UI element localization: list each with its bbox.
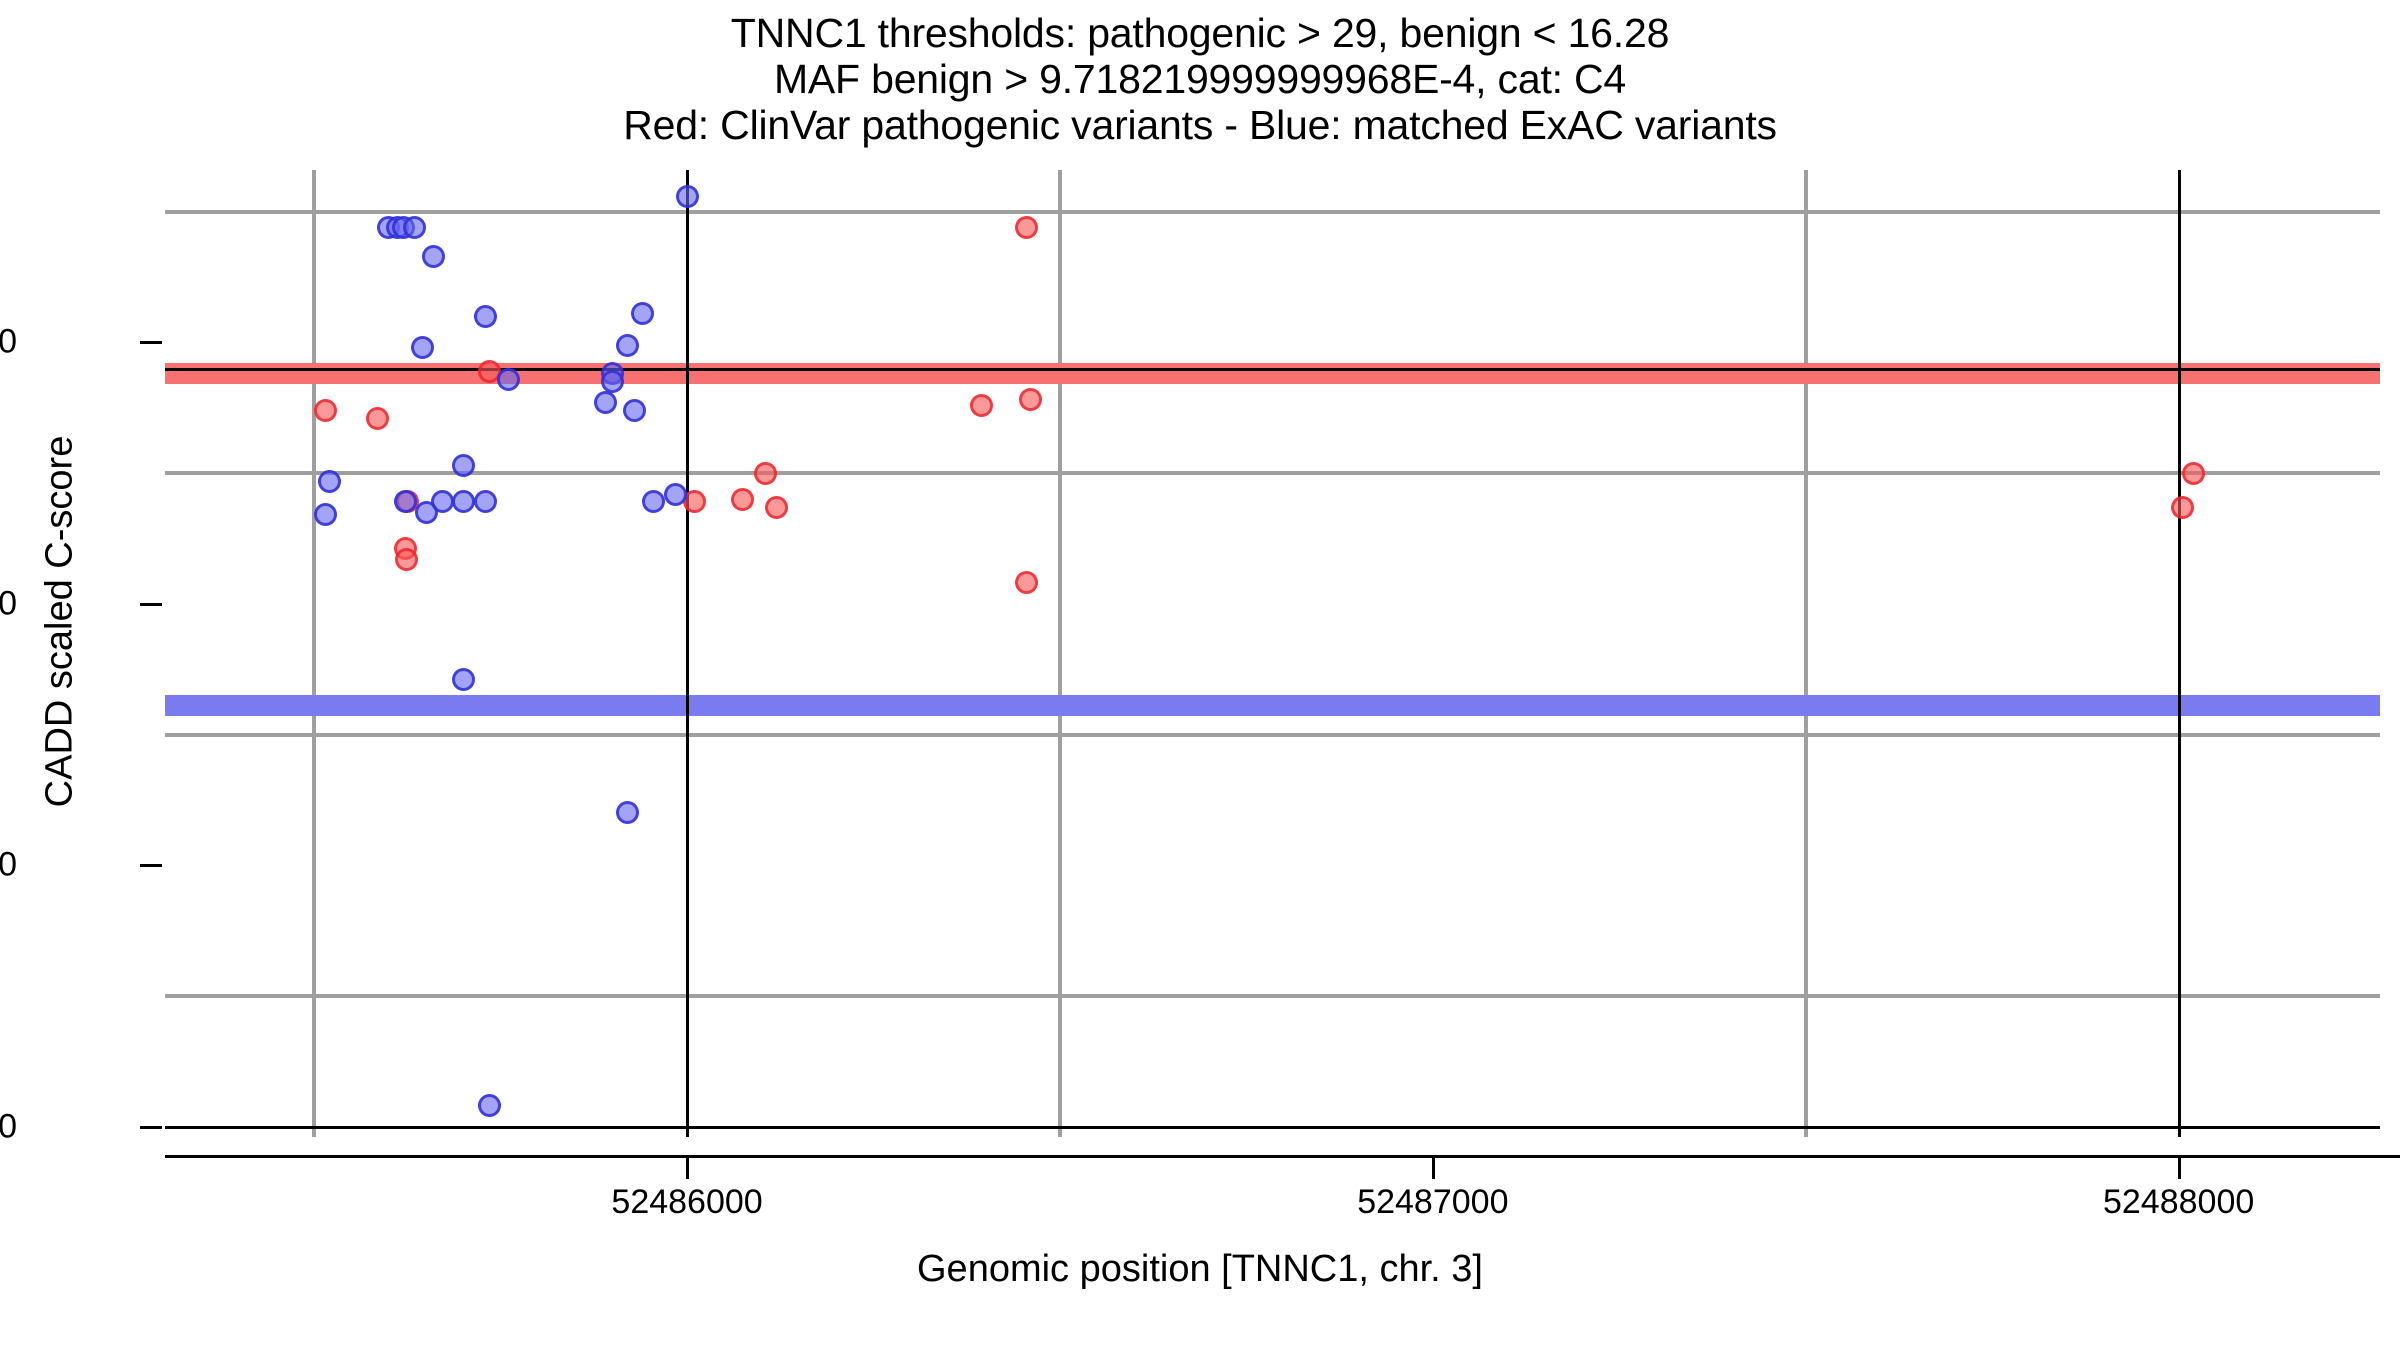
plot-area bbox=[165, 170, 2380, 1137]
point-exac bbox=[452, 490, 475, 513]
x-axis-tick bbox=[2178, 1157, 2181, 1179]
title-line-2: MAF benign > 9.718219999999968E-4, cat: … bbox=[0, 56, 2400, 102]
point-exac bbox=[497, 368, 520, 391]
x-axis-tick-label: 52486000 bbox=[611, 1183, 762, 1222]
reference-line-vertical bbox=[2178, 170, 2181, 1137]
point-exac bbox=[616, 801, 639, 824]
point-exac bbox=[431, 490, 454, 513]
point-exac bbox=[422, 245, 445, 268]
point-exac bbox=[642, 490, 665, 513]
x-axis-tick bbox=[686, 1157, 689, 1179]
gridline-vertical bbox=[1804, 170, 1808, 1137]
chart-root: TNNC1 thresholds: pathogenic > 29, benig… bbox=[0, 0, 2400, 1350]
point-exac bbox=[594, 391, 617, 414]
y-axis-tick-label: 0 bbox=[0, 1107, 17, 1146]
point-pathogenic bbox=[754, 462, 777, 485]
point-exac bbox=[411, 336, 434, 359]
point-pathogenic bbox=[731, 488, 754, 511]
x-axis-line bbox=[165, 1155, 2400, 1158]
reference-line-horizontal bbox=[165, 1126, 2380, 1129]
x-axis-label: Genomic position [TNNC1, chr. 3] bbox=[0, 1248, 2400, 1291]
point-exac bbox=[318, 470, 341, 493]
point-exac bbox=[452, 454, 475, 477]
y-axis-tick bbox=[140, 341, 162, 344]
point-pathogenic bbox=[2182, 462, 2205, 485]
title-line-3: Red: ClinVar pathogenic variants - Blue:… bbox=[0, 102, 2400, 148]
gridline-vertical bbox=[1058, 170, 1062, 1137]
y-axis-tick bbox=[140, 1126, 162, 1129]
x-axis-tick-label: 52487000 bbox=[1357, 1183, 1508, 1222]
point-exac bbox=[314, 503, 337, 526]
y-axis-tick bbox=[140, 603, 162, 606]
point-pathogenic bbox=[2171, 496, 2194, 519]
point-pathogenic bbox=[1015, 216, 1038, 239]
x-axis-tick bbox=[1432, 1157, 1435, 1179]
point-pathogenic bbox=[395, 548, 418, 571]
benign-threshold-band bbox=[165, 695, 2380, 716]
point-pathogenic bbox=[970, 394, 993, 417]
point-exac bbox=[616, 334, 639, 357]
point-exac bbox=[474, 305, 497, 328]
y-axis-tick-label: 20 bbox=[0, 584, 17, 623]
point-exac bbox=[452, 668, 475, 691]
gridline-horizontal bbox=[165, 994, 2380, 998]
point-pathogenic bbox=[366, 407, 389, 430]
point-pathogenic bbox=[1019, 388, 1042, 411]
gridline-horizontal bbox=[165, 733, 2380, 737]
x-axis-tick-label: 52488000 bbox=[2103, 1183, 2254, 1222]
point-pathogenic bbox=[314, 399, 337, 422]
point-exac bbox=[403, 216, 426, 239]
point-exac bbox=[664, 483, 687, 506]
point-exac bbox=[631, 302, 654, 325]
gridline-vertical bbox=[312, 170, 316, 1137]
y-axis-tick bbox=[140, 864, 162, 867]
reference-line-vertical bbox=[686, 170, 689, 1137]
y-axis-tick-label: 10 bbox=[0, 846, 17, 885]
point-exac bbox=[474, 490, 497, 513]
gridline-horizontal bbox=[165, 471, 2380, 475]
y-axis-label: CADD scaled C-score bbox=[39, 242, 82, 1002]
point-pathogenic bbox=[1015, 571, 1038, 594]
gridline-horizontal bbox=[165, 210, 2380, 214]
y-axis-tick-label: 30 bbox=[0, 323, 17, 362]
point-exac bbox=[478, 1094, 501, 1117]
chart-title: TNNC1 thresholds: pathogenic > 29, benig… bbox=[0, 10, 2400, 148]
point-exac bbox=[394, 490, 417, 513]
point-pathogenic bbox=[765, 496, 788, 519]
point-exac bbox=[623, 399, 646, 422]
point-exac bbox=[601, 370, 624, 393]
title-line-1: TNNC1 thresholds: pathogenic > 29, benig… bbox=[0, 10, 2400, 56]
point-exac bbox=[676, 185, 699, 208]
